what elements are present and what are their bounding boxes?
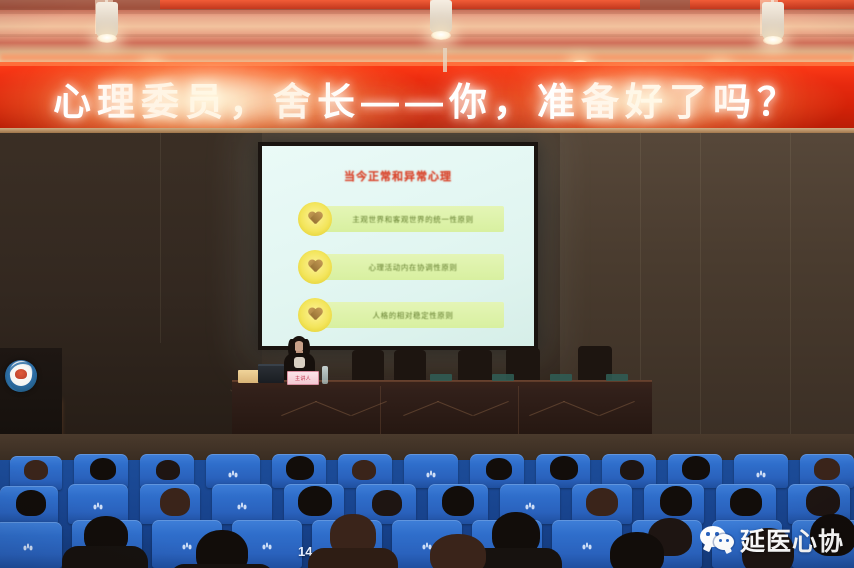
event-banner: 心理委员，舍长——你，准备好了吗？: [0, 62, 854, 134]
table-nameplate-1: [430, 374, 452, 381]
slide-bullet-1: 主观世界和客观世界的统一性原则: [298, 204, 504, 234]
table-chevron-3: [351, 401, 387, 416]
audience-shoulders: [308, 548, 398, 568]
table-chevron-9: [599, 401, 635, 416]
wall-seam-2: [700, 133, 701, 443]
lecture-hall-photo: 心理委员，舍长——你，准备好了吗？ 当今正常和异常心理 主观世界和客观世界的统一…: [0, 0, 854, 568]
audience-head: [352, 460, 376, 480]
seat[interactable]: [734, 454, 788, 488]
table-chevron-8: [563, 401, 599, 416]
table-chevron-2: [315, 401, 351, 416]
pendant-light-3: [762, 0, 784, 50]
heart-icon-1: [298, 202, 332, 236]
table-nameplate-4: [606, 374, 628, 381]
table-nameplate-2: [492, 374, 514, 381]
slide-bullet-2: 心理活动内在协调性原则: [298, 252, 504, 282]
table-chevron-5: [437, 401, 473, 416]
audience-head-front: [196, 530, 248, 568]
ceiling-line-a: [0, 10, 854, 14]
wall-seam-3: [790, 133, 791, 443]
audience-head: [806, 486, 840, 516]
stage-chair-2: [394, 350, 426, 382]
audience-head: [372, 490, 402, 516]
pendant-light-2: [430, 0, 452, 48]
seat[interactable]: [0, 522, 62, 568]
name-placard: 主讲人: [287, 371, 319, 385]
slide-title: 当今正常和异常心理: [262, 168, 534, 184]
name-placard-text: 主讲人: [295, 375, 311, 382]
ceiling-red-strip-a: [160, 0, 640, 9]
audience-head: [730, 488, 762, 516]
table-chevron-4: [403, 401, 439, 416]
wall-top-trim: [0, 128, 854, 133]
wechat-icon: [700, 526, 734, 554]
audience-head: [814, 458, 840, 480]
ceiling-line-b: [0, 34, 854, 37]
audience-head: [486, 458, 512, 480]
audience-head: [24, 460, 48, 480]
seat[interactable]: [212, 484, 272, 524]
audience-head: [442, 486, 474, 516]
audience-shoulders: [62, 546, 148, 568]
audience-head: [586, 488, 618, 516]
audience-head: [286, 456, 314, 480]
stage-chair-1: [352, 350, 384, 382]
audience-head: [550, 456, 578, 480]
pendant-light-1: [96, 0, 118, 48]
slide-surface: 当今正常和异常心理 主观世界和客观世界的统一性原则 心理活动内在协调性原则 人格…: [262, 146, 534, 346]
pendant-rod-lower: [434, 48, 456, 72]
water-bottle[interactable]: [322, 366, 328, 384]
presenter-laptop[interactable]: [258, 364, 284, 383]
table-chevron-6: [473, 401, 509, 416]
audience-head: [160, 488, 190, 516]
heart-icon-2: [298, 250, 332, 284]
emblem-ring: [7, 362, 37, 392]
audience-head: [298, 486, 332, 516]
speaker-blouse: [294, 357, 305, 368]
audience-shoulders-front: [170, 564, 274, 568]
audience-head: [156, 460, 180, 480]
bullet-bar-1: 主观世界和客观世界的统一性原则: [322, 206, 504, 232]
wall-seam-4: [160, 133, 161, 343]
banner-title: 心理委员，舍长——你，准备好了吗？: [0, 62, 854, 134]
projection-screen: 当今正常和异常心理 主观世界和客观世界的统一性原则 心理活动内在协调性原则 人格…: [258, 142, 538, 350]
audience-head: [682, 456, 710, 480]
wechat-watermark: 延医心协: [700, 522, 844, 558]
bullet-bar-3: 人格的相对稳定性原则: [322, 302, 504, 328]
wechat-dot-3: [719, 539, 722, 542]
audience-head: [620, 460, 644, 480]
stage-chair-3: [458, 350, 492, 382]
wechat-bubble-small: [714, 534, 734, 550]
table-chevron-7: [529, 401, 565, 416]
wechat-account-name: 延医心协: [740, 522, 844, 558]
wechat-dot-1: [706, 532, 710, 536]
table-nameplate-3: [550, 374, 572, 381]
seat[interactable]: [404, 454, 458, 488]
audience-head-front: [610, 532, 664, 568]
audience-head: [16, 490, 46, 516]
ceiling-glow-band: [0, 52, 854, 62]
audience-head-front: [430, 534, 486, 568]
bullet-text-2: 心理活动内在协调性原则: [368, 262, 457, 273]
institution-emblem: [5, 360, 37, 392]
seat[interactable]: [206, 454, 260, 488]
presenter-table: [232, 382, 652, 442]
bullet-text-3: 人格的相对稳定性原则: [373, 310, 454, 321]
wechat-dot-4: [726, 539, 729, 542]
audience-head: [90, 458, 116, 480]
heart-icon-3: [298, 298, 332, 332]
bullet-text-1: 主观世界和客观世界的统一性原则: [352, 214, 474, 225]
audience-head: [660, 486, 692, 516]
bullet-bar-2: 心理活动内在协调性原则: [322, 254, 504, 280]
table-chevron-1: [281, 401, 317, 416]
slide-bullet-3: 人格的相对稳定性原则: [298, 300, 504, 330]
